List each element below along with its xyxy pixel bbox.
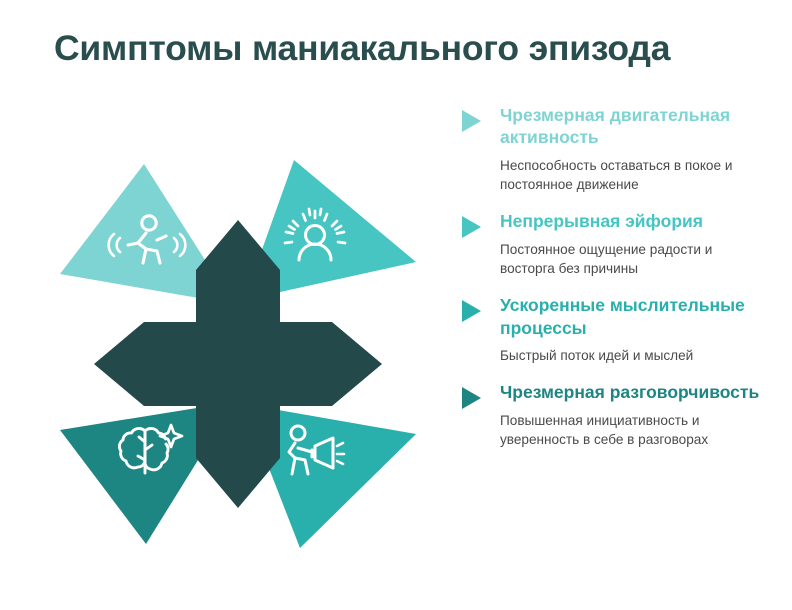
symptom-description: Неспособность оставаться в покое и посто… bbox=[500, 156, 760, 195]
triangle-right-icon bbox=[462, 110, 481, 132]
symptom-description: Повышенная инициативность и уверенность … bbox=[500, 411, 760, 450]
infographic-root: Симптомы маниакального эпизода bbox=[0, 0, 792, 610]
symptom-title: Ускоренные мыслительные процессы bbox=[500, 294, 760, 339]
page-title: Симптомы маниакального эпизода bbox=[54, 28, 754, 69]
triangle-right-icon bbox=[462, 300, 481, 322]
symptom-title: Чрезмерная разговорчивость bbox=[500, 381, 760, 403]
list-item: Ускоренные мыслительные процессы Быстрый… bbox=[460, 294, 760, 365]
list-item: Непрерывная эйфория Постоянное ощущение … bbox=[460, 210, 760, 278]
symptom-title: Чрезмерная двигательная активность bbox=[500, 104, 760, 149]
list-item: Чрезмерная разговорчивость Повышенная ин… bbox=[460, 381, 760, 449]
symptom-list: Чрезмерная двигательная активность Неспо… bbox=[460, 104, 760, 449]
symptom-title: Непрерывная эйфория bbox=[500, 210, 760, 232]
list-item: Чрезмерная двигательная активность Неспо… bbox=[460, 104, 760, 194]
symptoms-illustration bbox=[48, 152, 428, 552]
symptom-description: Быстрый поток идей и мыслей bbox=[500, 346, 760, 365]
triangle-right-icon bbox=[462, 216, 481, 238]
triangle-right-icon bbox=[462, 387, 481, 409]
symptom-description: Постоянное ощущение радости и восторга б… bbox=[500, 240, 760, 279]
